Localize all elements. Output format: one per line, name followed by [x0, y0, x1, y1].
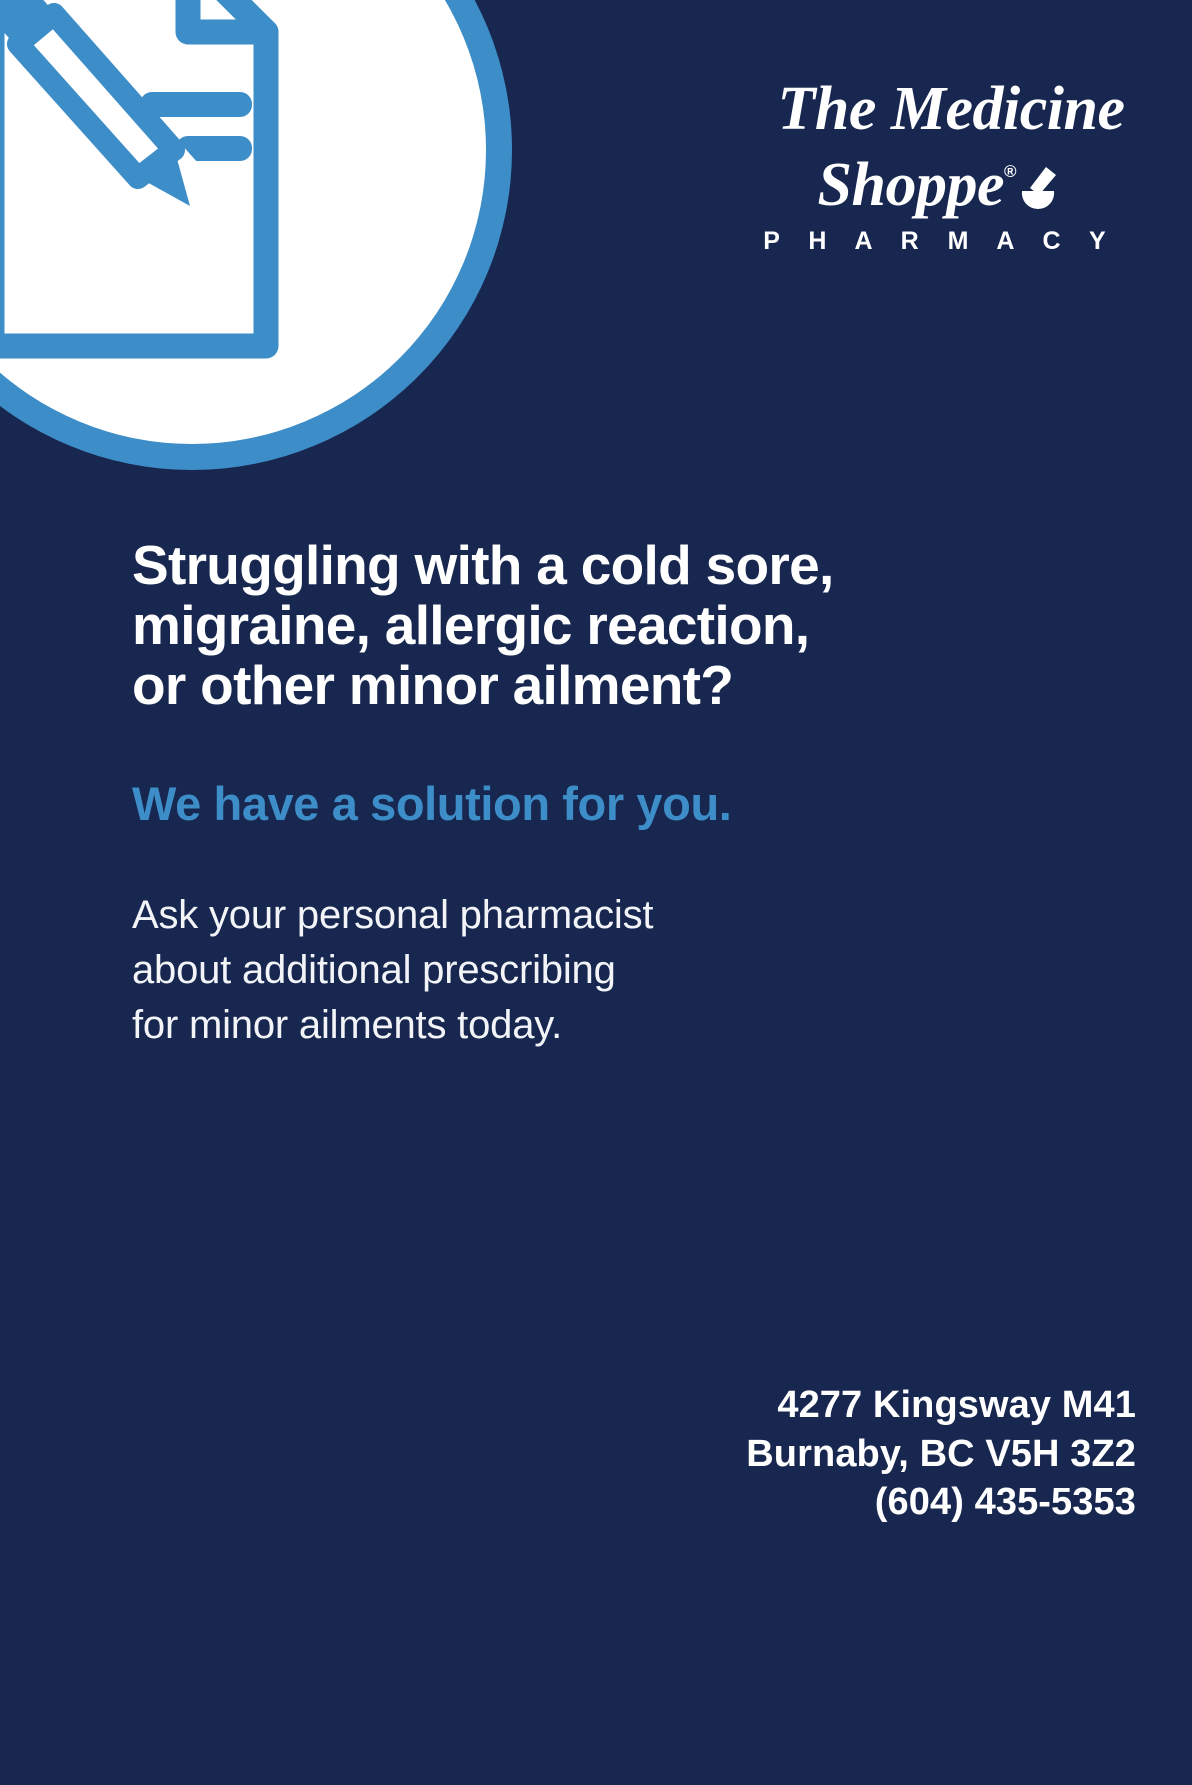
address-phone[interactable]: (604) 435-5353: [746, 1478, 1136, 1527]
brand-logo: The Medicine Shoppe® P H A R M A C Y: [724, 78, 1144, 256]
logo-script-line-2-wrap: Shoppe®: [807, 140, 1060, 217]
body-line-3: for minor ailments today.: [132, 998, 962, 1053]
registered-mark-icon: ®: [1004, 162, 1017, 181]
logo-script-line-1: The Medicine: [724, 78, 1144, 140]
address-street: 4277 Kingsway M41: [746, 1381, 1136, 1430]
mortar-and-pestle-icon: [1019, 165, 1061, 211]
headline-line-1: Struggling with a cold sore,: [132, 534, 834, 596]
body-copy: Ask your personal pharmacist about addit…: [132, 888, 962, 1054]
store-address-block: 4277 Kingsway M41 Burnaby, BC V5H 3Z2 (6…: [746, 1381, 1136, 1527]
headline-line-3: or other minor ailment?: [132, 654, 733, 716]
poster-canvas: The Medicine Shoppe® P H A R M A C Y Str…: [0, 0, 1192, 1785]
body-line-1: Ask your personal pharmacist: [132, 888, 962, 943]
body-line-2: about additional prescribing: [132, 943, 962, 998]
address-city-province-postal: Burnaby, BC V5H 3Z2: [746, 1430, 1136, 1479]
logo-pharmacy-wordmark: P H A R M A C Y: [724, 227, 1144, 256]
document-with-pencil-icon: [0, 0, 358, 360]
logo-script-line-2: Shoppe: [817, 151, 1003, 219]
headline-line-2: migraine, allergic reaction,: [132, 594, 809, 656]
headline: Struggling with a cold sore, migraine, a…: [132, 536, 962, 716]
subheadline: We have a solution for you.: [132, 778, 962, 830]
copy-block: Struggling with a cold sore, migraine, a…: [132, 536, 962, 1053]
badge-circle: [0, 0, 512, 470]
